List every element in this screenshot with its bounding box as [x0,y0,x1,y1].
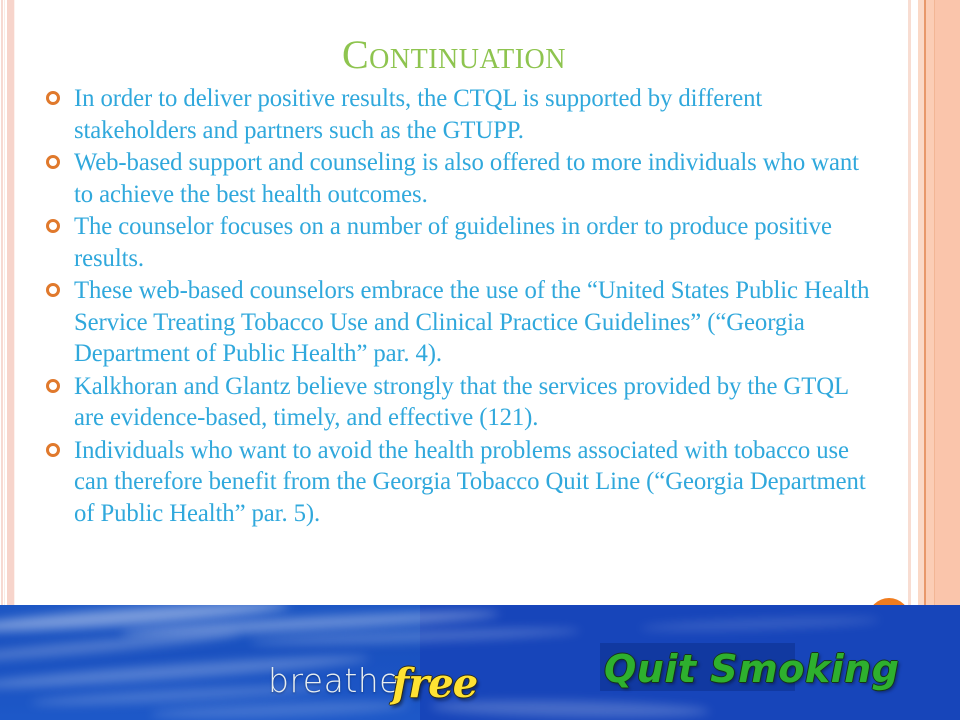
list-item-text: These web-based counselors embrace the u… [74,274,877,369]
ring-bullet-icon [46,283,60,297]
ring-bullet-icon [46,155,60,169]
ring-bullet-icon [46,379,60,393]
list-item: The counselor focuses on a number of gui… [44,210,902,273]
list-item-text: The counselor focuses on a number of gui… [74,210,877,273]
brand-word-free: free [392,660,477,707]
ring-bullet-icon [46,91,60,105]
ring-bullet-icon [46,443,60,457]
slide-title: Continuation [0,32,908,78]
list-item-text: Kalkhoran and Glantz believe strongly th… [74,370,877,433]
list-item: These web-based counselors embrace the u… [44,274,902,369]
list-item-text: Web-based support and counseling is also… [74,146,877,209]
list-item: In order to deliver positive results, th… [44,82,902,145]
list-item: Web-based support and counseling is also… [44,146,902,209]
presentation-slide: Continuation In order to deliver positiv… [0,0,960,720]
list-item: Individuals who want to avoid the health… [44,434,902,529]
bullet-list: In order to deliver positive results, th… [44,82,902,529]
list-item: Kalkhoran and Glantz believe strongly th… [44,370,902,433]
list-item-text: In order to deliver positive results, th… [74,82,877,145]
list-item-text: Individuals who want to avoid the health… [74,434,877,529]
banner-tagline: Quit Smoking [604,647,899,691]
brand-word-breathe: breathe [268,661,400,700]
breathe-free-logo: breathefree [268,655,477,702]
ring-bullet-icon [46,219,60,233]
